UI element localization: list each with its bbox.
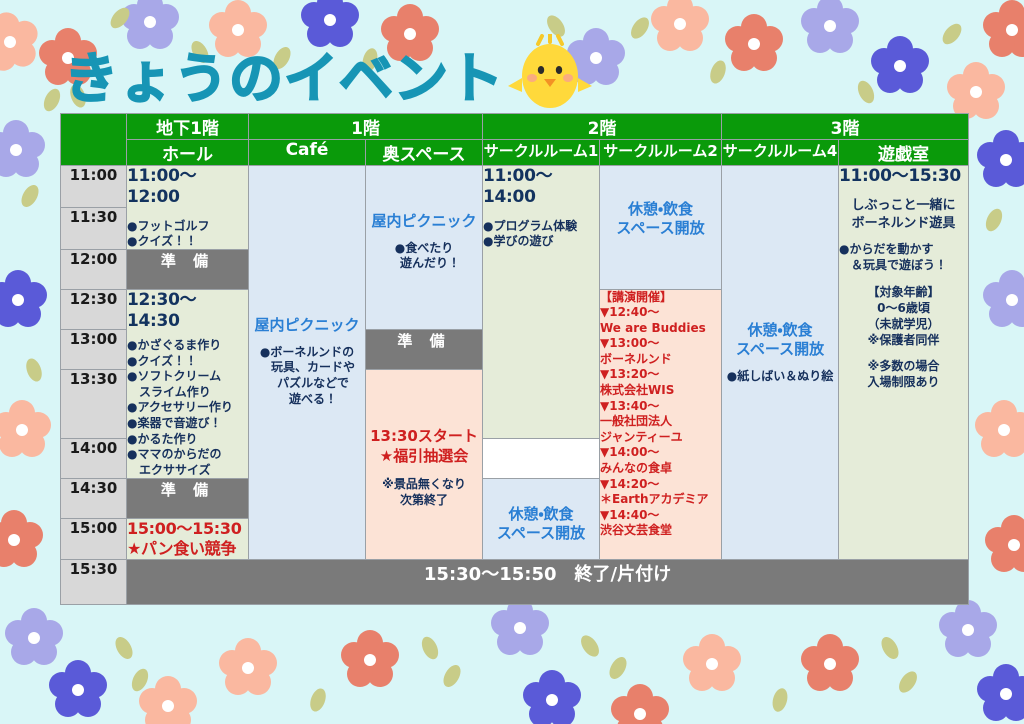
lecture-name: 渋谷文芸食堂 [600,523,721,539]
lottery-title-line-1: 13:30スタート [366,426,482,446]
chick-icon [508,34,592,110]
circle-room-4-rest-line-2: スペース開放 [722,340,838,359]
hall-afternoon-cell: 12:30〜14:30 ●かざぐるま作り ●クイズ！！ ●ソフトクリーム スライ… [127,289,249,479]
cafe-line-4: 遊べる！ [249,392,365,408]
circle-room-2-rest-cell: 休憩・飲食 スペース開放 [600,166,722,290]
lecture-time: ▼14:40〜 [600,508,721,524]
hall-final-cell: 15:00〜15:30 ★パン食い競争 [127,519,249,560]
lecture-time: ▼13:00〜 [600,336,721,352]
lecture-name: ボーネルンド [600,352,721,368]
playroom-cell: 11:00〜15:30 しぶっこと一緒に ボーネルンド遊具 ●からだを動かす ＆… [839,166,969,560]
lecture-time: ▼12:40〜 [600,305,721,321]
hall-afternoon-item-1: ●かざぐるま作り [127,338,248,354]
time-label-1330: 13:30 [61,369,127,439]
lecture-heading: 【講演開催】 [600,290,721,306]
playroom-limit-line-2: 入場制限あり [839,374,968,390]
playroom-heading-line-2: ボーネルンド遊具 [839,215,968,233]
time-label-1100: 11:00 [61,166,127,208]
floor-header-1f: 1階 [249,114,483,140]
lecture-name: 株式会社WIS [600,383,721,399]
circle-room-1-program-cell: 11:00〜14:00 ●プログラム体験 ●学びの遊び [483,166,600,439]
hall-afternoon-item-6: ●楽器で音遊び！ [127,416,248,432]
hall-afternoon-item-2: ●クイズ！！ [127,354,248,370]
playroom-heading-line-1: しぶっこと一緒に [839,197,968,215]
room-header-circle-2: サークルルーム2 [600,140,722,166]
playroom-age-heading: 【対象年齢】 [839,284,968,300]
room-header-cafe: Café [249,140,366,166]
back-space-line-1: ●食べたり [366,241,482,257]
circle-room-1-item-2: ●学びの遊び [483,234,599,249]
circle-room-1-rest-line-1: 休憩・飲食 [483,505,599,524]
back-space-picnic-cell: 屋内ピクニック ●食べたり 遊んだり！ [366,166,483,330]
floor-header-row: 地下1階 1階 2階 3階 [61,114,969,140]
circle-room-1-time: 11:00〜14:00 [483,166,599,209]
playroom-age-line-3: ※保護者同伴 [839,332,968,348]
hall-afternoon-item-4: スライム作り [127,385,248,401]
back-space-lottery-cell: 13:30スタート ★福引抽選会 ※景品無くなり 次第終了 [366,369,483,560]
cafe-cell: 屋内ピクニック ●ボーネルンドの 玩具、カードや パズルなどで 遊べる！ [249,166,366,560]
playroom-age-line-1: 0〜6歳頃 [839,300,968,316]
circle-room-1-rest-line-2: スペース開放 [483,524,599,543]
hall-afternoon-item-8: ●ママのからだの [127,447,248,463]
hall-final-time: 15:00〜15:30 [127,519,248,539]
circle-room-2-rest-line-2: スペース開放 [600,219,721,238]
time-label-1530: 15:30 [61,560,127,605]
table-row-footer: 15:30 15:30〜15:50 終了/片付け [61,560,969,605]
table-row: 11:00 11:00〜12:00 ●フットゴルフ ●クイズ！！ 屋内ピクニック… [61,166,969,208]
lecture-name: ＊Earthアカデミア [600,492,721,508]
circle-room-1-item-1: ●プログラム体験 [483,219,599,234]
lecture-name: 一般社団法人 ジャンティーユ [600,414,721,445]
cafe-line-1: ●ボーネルンドの [249,345,365,361]
time-label-1430: 14:30 [61,479,127,519]
time-label-1200: 12:00 [61,249,127,289]
back-space-heading: 屋内ピクニック [366,212,482,231]
hall-afternoon-item-3: ●ソフトクリーム [127,369,248,385]
playroom-item-line-1: ●からだを動かす [839,242,968,258]
circle-room-2-lecture-cell: 【講演開催】 ▼12:40〜 We are Buddies ▼13:00〜 ボー… [600,289,722,560]
hall-morning-cell: 11:00〜12:00 ●フットゴルフ ●クイズ！！ [127,166,249,250]
hall-prep-cell-1: 準 備 [127,249,249,289]
hall-final-title: ★パン食い競争 [127,539,248,559]
circle-room-1-rest-cell: 休憩・飲食 スペース開放 [483,479,600,560]
lottery-note-line-2: 次第終了 [366,492,482,508]
lottery-note-line-1: ※景品無くなり [366,476,482,492]
cafe-heading: 屋内ピクニック [249,316,365,335]
cafe-line-3: パズルなどで [249,376,365,392]
event-schedule-table: 地下1階 1階 2階 3階 ホール Café 奥スペース サークルルーム1 サー… [60,113,969,605]
playroom-item-line-2: ＆玩具で遊ぼう！ [839,258,968,274]
lecture-name: みんなの食卓 [600,461,721,477]
hall-afternoon-item-7: ●かるた作り [127,432,248,448]
circle-room-4-item: ●紙しばい＆ぬり絵 [722,369,838,385]
hall-morning-item-2: ●クイズ！！ [127,234,248,249]
room-header-circle-1: サークルルーム1 [483,140,600,166]
back-space-prep-cell: 準 備 [366,329,483,369]
lecture-time: ▼13:40〜 [600,399,721,415]
lecture-time: ▼14:00〜 [600,445,721,461]
circle-room-4-rest-line-1: 休憩・飲食 [722,321,838,340]
lecture-time: ▼13:20〜 [600,367,721,383]
lecture-name: We are Buddies [600,321,721,337]
floor-header-b1: 地下1階 [127,114,249,140]
hall-morning-time: 11:00〜12:00 [127,166,248,209]
back-space-line-2: 遊んだり！ [366,256,482,272]
cafe-line-2: 玩具、カードや [249,360,365,376]
room-header-circle-4: サークルルーム4 [722,140,839,166]
lottery-title-line-2: ★福引抽選会 [366,446,482,466]
room-header-hall: ホール [127,140,249,166]
floor-header-3f: 3階 [722,114,969,140]
playroom-time: 11:00〜15:30 [839,166,968,187]
time-label-1230: 12:30 [61,289,127,329]
playroom-limit-line-1: ※多数の場合 [839,358,968,374]
hall-prep-cell-2: 準 備 [127,479,249,519]
floor-header-2f: 2階 [483,114,722,140]
time-label-1130: 11:30 [61,207,127,249]
time-label-1300: 13:00 [61,329,127,369]
room-header-playroom: 遊戯室 [839,140,969,166]
hall-morning-item-1: ●フットゴルフ [127,219,248,234]
hall-afternoon-time: 12:30〜14:30 [127,290,248,333]
circle-room-4-cell: 休憩・飲食 スペース開放 ●紙しばい＆ぬり絵 [722,166,839,560]
time-label-1500: 15:00 [61,519,127,560]
lecture-time: ▼14:20〜 [600,477,721,493]
closing-footer-cell: 15:30〜15:50 終了/片付け [127,560,969,605]
room-header-back-space: 奥スペース [366,140,483,166]
page-title-group: きょうのイベント [64,34,592,106]
hall-afternoon-item-9: エクササイズ [127,463,248,479]
page-title: きょうのイベント [64,52,504,106]
hall-afternoon-item-5: ●アクセサリー作り [127,400,248,416]
room-header-row: ホール Café 奥スペース サークルルーム1 サークルルーム2 サークルルーム… [61,140,969,166]
table-corner-cell [61,114,127,166]
circle-room-2-rest-line-1: 休憩・飲食 [600,200,721,219]
time-label-1400: 14:00 [61,439,127,479]
playroom-age-line-2: （未就学児） [839,316,968,332]
